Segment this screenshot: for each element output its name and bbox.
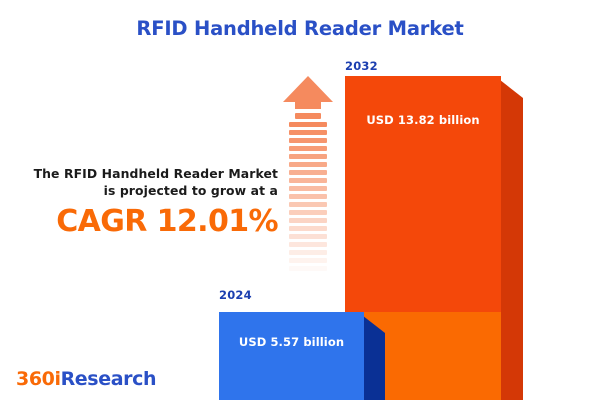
arrow-stripe — [289, 250, 327, 255]
arrow-shaft — [289, 122, 327, 292]
arrow-stripe — [289, 226, 327, 231]
arrow-stripe — [289, 202, 327, 207]
arrow-stripe — [289, 130, 327, 135]
brand-logo: 360iResearch — [16, 368, 156, 390]
arrow-stripe — [289, 162, 327, 167]
arrow-stripe — [289, 186, 327, 191]
arrow-head-icon — [283, 76, 333, 122]
arrow-stripe — [289, 274, 327, 279]
arrow-stripe — [289, 234, 327, 239]
page-title: RFID Handheld Reader Market — [0, 17, 600, 40]
arrow-stripe — [289, 266, 327, 271]
arrow-stripe — [289, 258, 327, 263]
cagr-value: CAGR 12.01% — [18, 205, 278, 239]
bar-2024: USD 5.57 billion — [219, 312, 385, 400]
arrow-stripe — [289, 210, 327, 215]
infographic-canvas: RFID Handheld Reader Market The RFID Han… — [0, 0, 600, 400]
bar-label-2032: 2032 — [345, 59, 425, 73]
statement-block: The RFID Handheld Reader Market is proje… — [18, 166, 278, 239]
arrow-stripe — [289, 218, 327, 223]
bar-2032-front-face — [345, 76, 501, 312]
growth-arrow-icon — [283, 76, 333, 292]
statement-line-2: is projected to grow at a — [18, 183, 278, 200]
arrow-stripe — [289, 122, 327, 127]
arrow-stripe — [289, 146, 327, 151]
bar-2024-front-face — [219, 312, 364, 400]
statement-line-1: The RFID Handheld Reader Market — [18, 166, 278, 183]
arrow-stripe — [289, 178, 327, 183]
arrow-stripe — [289, 170, 327, 175]
bar-label-2024: 2024 — [219, 288, 299, 302]
arrow-stripe — [289, 194, 327, 199]
arrow-stripe — [289, 242, 327, 247]
arrow-stripe — [289, 138, 327, 143]
logo-text-blue: Research — [61, 368, 157, 390]
logo-text-orange: 360i — [16, 368, 61, 390]
bar-2032-value-label: USD 13.82 billion — [345, 113, 501, 127]
bar-2024-value-label: USD 5.57 billion — [219, 335, 364, 349]
arrow-stripe — [289, 154, 327, 159]
